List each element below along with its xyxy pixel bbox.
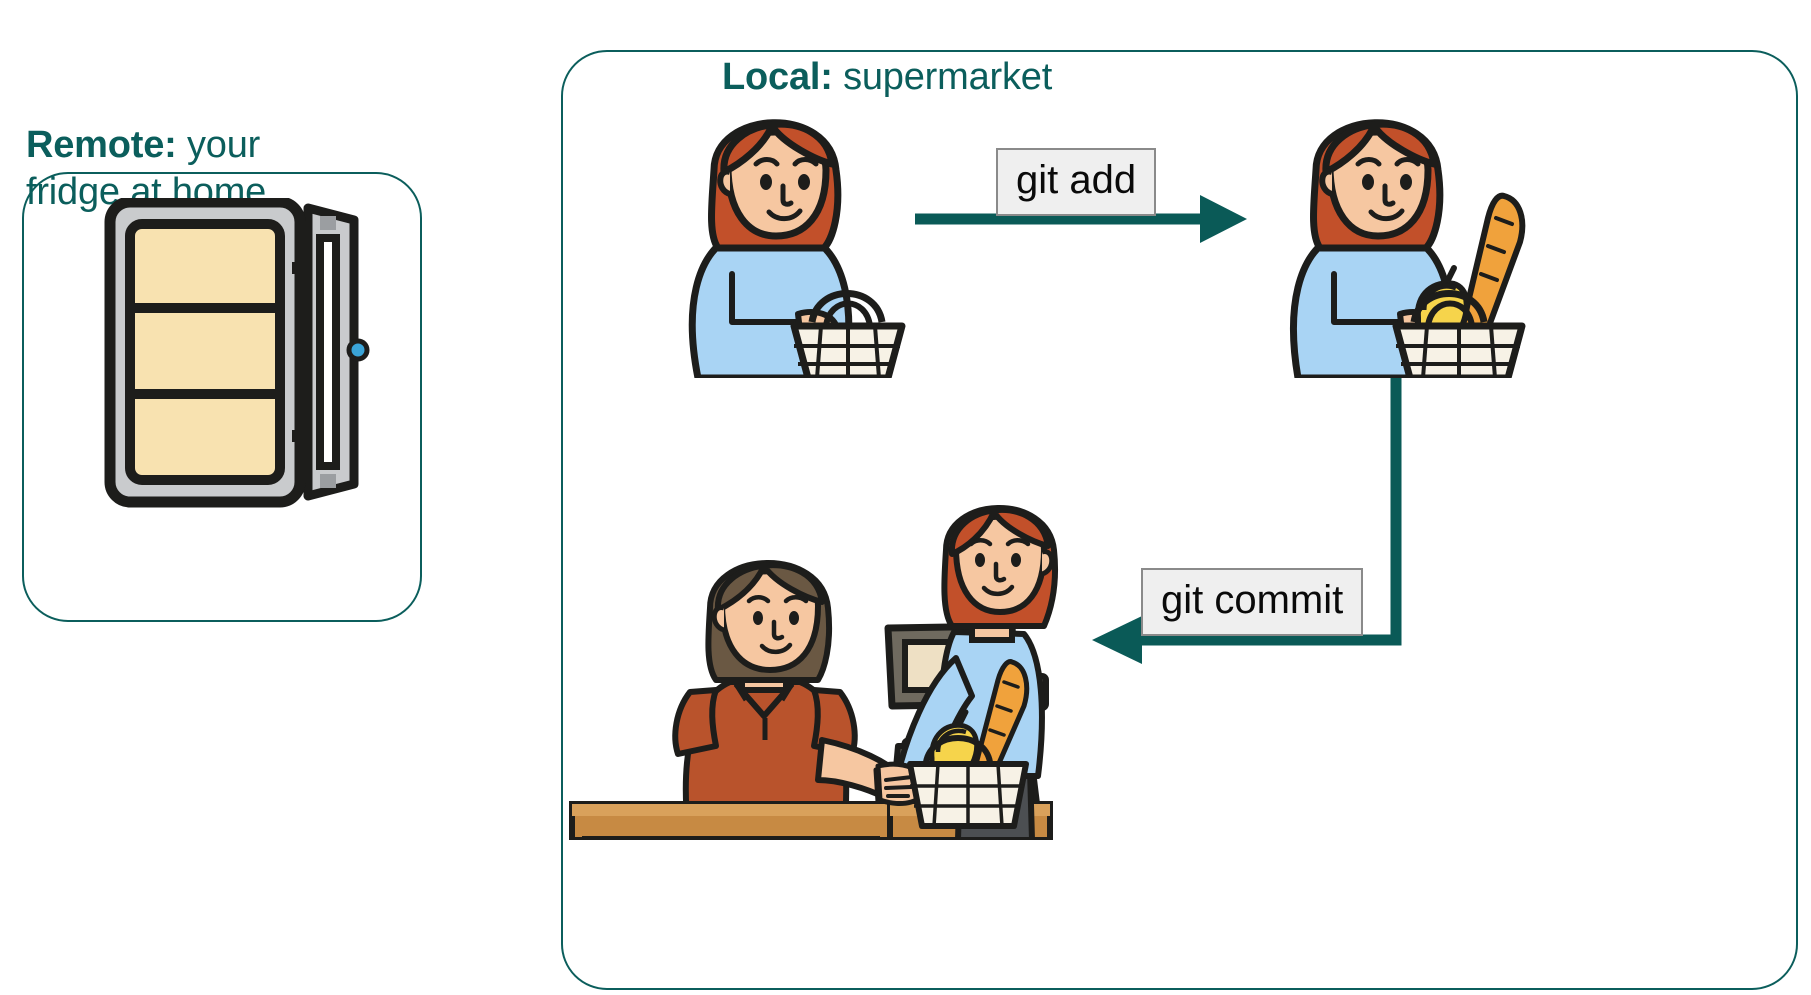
diagram-canvas: Remote: your fridge at home Local: super… (0, 0, 1811, 995)
checkout-scene-illustration (560, 440, 1100, 840)
git-add-label-text: git add (1016, 158, 1136, 202)
git-add-label-box[interactable]: git add (996, 148, 1156, 216)
git-commit-label-box[interactable]: git commit (1141, 568, 1363, 636)
shopper-with-empty-basket-illustration (640, 78, 930, 378)
git-commit-label-text: git commit (1161, 578, 1343, 622)
remote-label-lead: Remote: (26, 124, 177, 166)
fridge-door-open (308, 208, 367, 496)
fridge-body (110, 202, 310, 502)
fridge-illustration (96, 198, 376, 508)
shopper-with-full-basket-illustration (1272, 78, 1562, 378)
